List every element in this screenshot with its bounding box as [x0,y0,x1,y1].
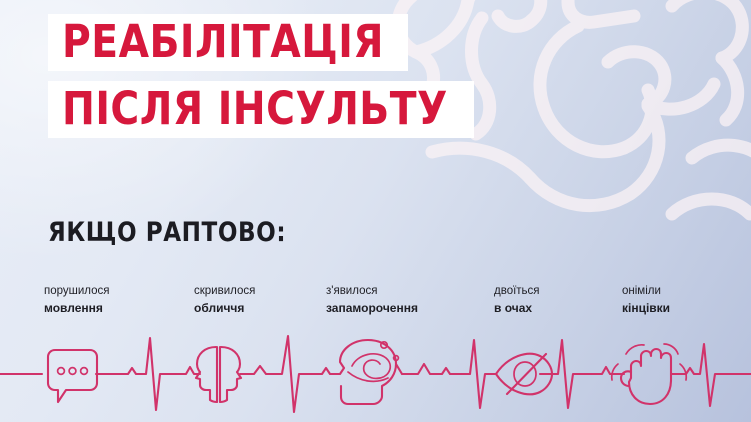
symptom-label-vision: двоїться в очах [494,284,540,316]
title-line-1: РЕАБІЛІТАЦІЯ [62,19,384,64]
symptom-label-dizziness-line1: з'явилося [326,284,418,299]
symptom-label-speech-line2: мовлення [44,301,110,316]
title-line-2: ПІСЛЯ ІНСУЛЬТУ [62,86,448,131]
symptom-label-face-line1: скривилося [194,284,255,299]
symptom-label-vision-line2: в очах [494,301,540,316]
split-face-icon [196,347,244,402]
subheading: ЯКЩО РАПТОВО: [48,218,286,248]
ecg-heartbeat-line [0,328,751,422]
symptom-label-face-line2: обличчя [194,301,255,316]
symptom-label-limbs: оніміли кінцівки [622,284,670,316]
symptom-label-limbs-line1: оніміли [622,284,670,299]
stroke-rehabilitation-infographic: РЕАБІЛІТАЦІЯ ПІСЛЯ ІНСУЛЬТУ ЯКЩО РАПТОВО… [0,0,751,422]
title-box-line-2: ПІСЛЯ ІНСУЛЬТУ [48,81,474,138]
speech-bubble-icon [48,350,97,402]
symptom-label-speech-line1: порушилося [44,284,110,299]
symptom-label-dizziness: з'явилося запаморочення [326,284,418,316]
symptom-label-row: порушилося мовлення скривилося обличчя з… [0,284,751,328]
page-title: РЕАБІЛІТАЦІЯ ПІСЛЯ ІНСУЛЬТУ [48,14,751,148]
symptom-label-vision-line1: двоїться [494,284,540,299]
symptom-label-dizziness-line2: запаморочення [326,301,418,316]
title-box-line-1: РЕАБІЛІТАЦІЯ [48,14,408,71]
symptom-label-limbs-line2: кінцівки [622,301,670,316]
dizzy-head-icon [333,340,402,404]
symptom-label-speech: порушилося мовлення [44,284,110,316]
symptom-label-face: скривилося обличчя [194,284,255,316]
